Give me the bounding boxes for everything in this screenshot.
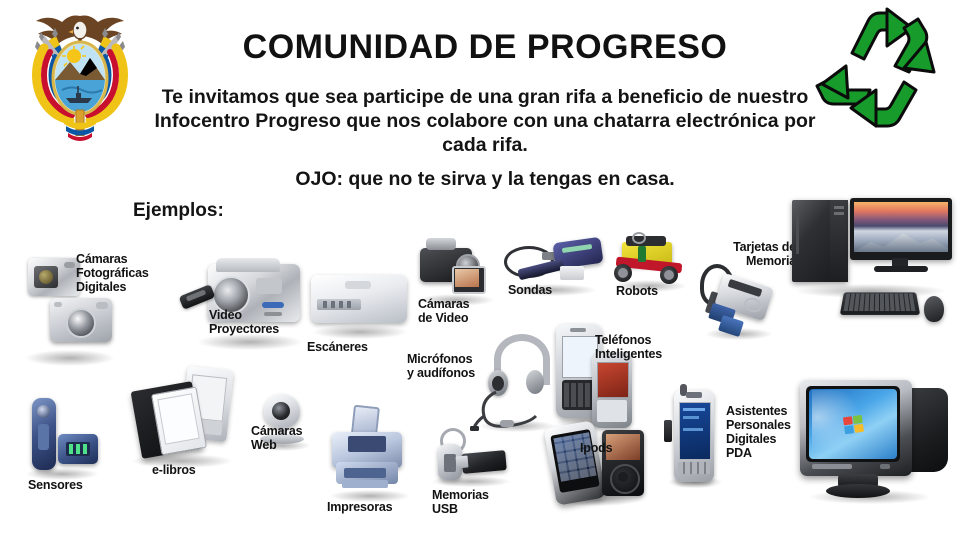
device-impresoras xyxy=(322,406,418,506)
page-title: COMUNIDAD DE PROGRESO xyxy=(160,30,810,66)
label-camaras-de-video: Cámaras de Video xyxy=(418,297,486,325)
device-desktop-computer xyxy=(786,192,958,340)
label-tarjetas-de-memoria: Tarjetas de Memoria xyxy=(722,240,796,268)
label-impresoras: Impresoras xyxy=(327,500,413,514)
label-asistentes-personales-digitales: Asistentes Personales Digitales PDA xyxy=(726,404,800,460)
label-video-proyectores: Video Proyectores xyxy=(209,308,295,336)
label-e-libros: e-libros xyxy=(152,463,222,477)
examples-label: Ejemplos: xyxy=(133,200,224,222)
header-block: COMUNIDAD DE PROGRESO Te invitamos que s… xyxy=(0,0,960,200)
recycling-symbol-icon xyxy=(812,6,954,132)
label-sondas: Sondas xyxy=(508,283,568,297)
device-ipods xyxy=(546,420,650,510)
device-tarjetas-de-memoria xyxy=(698,262,780,344)
label-camaras-web: Cámaras Web xyxy=(251,424,313,452)
device-asistentes-personales-digitales xyxy=(664,382,726,494)
device-escaneres xyxy=(305,265,415,345)
invitation-text: Te invitamos que sea participe de una gr… xyxy=(150,86,820,157)
label-escaneres: Escáneres xyxy=(307,340,387,354)
label-sensores: Sensores xyxy=(28,478,104,492)
label-telefonos-inteligentes: Teléfonos Inteligentes xyxy=(595,333,675,361)
label-camaras-fotograficas-digitales: Cámaras Fotográficas Digitales xyxy=(76,252,170,294)
device-video-proyectores xyxy=(180,250,310,360)
warning-text: OJO: que no te sirva y la tengas en casa… xyxy=(150,168,820,191)
device-e-libros xyxy=(122,368,242,478)
label-microfonos-y-audifonos: Micrófonos y audífonos xyxy=(407,352,483,380)
ecuador-coat-of-arms-icon xyxy=(22,6,138,142)
label-ipods: Ipods xyxy=(580,441,630,455)
device-crt-monitor xyxy=(794,378,958,510)
label-robots: Robots xyxy=(616,284,676,298)
device-memorias-usb xyxy=(426,428,518,492)
device-sensores xyxy=(22,396,108,484)
poster-canvas: COMUNIDAD DE PROGRESO Te invitamos que s… xyxy=(0,0,960,540)
label-memorias-usb: Memorias USB xyxy=(432,488,504,516)
